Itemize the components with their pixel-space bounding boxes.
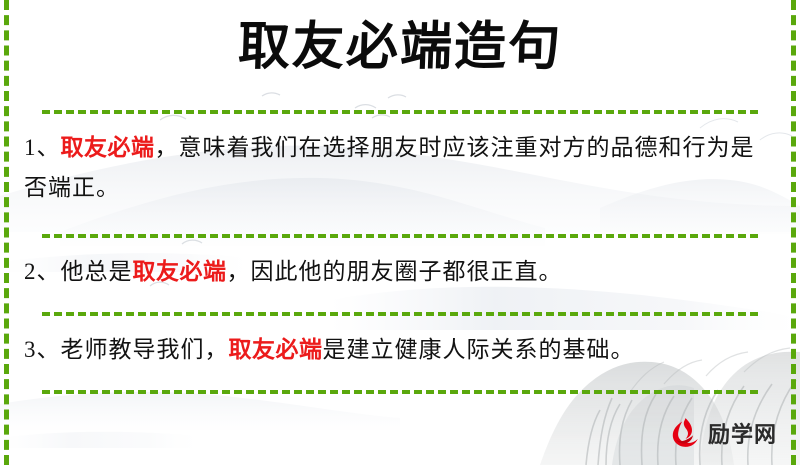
page-root: 取友必端造句 1、取友必端，意味着我们在选择朋友时应该注重对方的品德和行为是否端… bbox=[0, 0, 800, 465]
sentence-text-pre: 老师教导我们， bbox=[61, 337, 229, 362]
frame-border-right bbox=[791, 0, 796, 465]
sentence-keyword: 取友必端 bbox=[229, 337, 323, 362]
title-area: 取友必端造句 bbox=[0, 18, 800, 78]
sentence-item: 2、他总是取友必端，因此他的朋友圈子都很正直。 bbox=[24, 252, 776, 292]
sentence-index: 3、 bbox=[24, 337, 61, 362]
sentence-index: 2、 bbox=[24, 259, 61, 284]
sentence-text-pre: 他总是 bbox=[61, 259, 133, 284]
site-logo[interactable]: 励学网 bbox=[668, 416, 777, 450]
sentence-keyword: 取友必端 bbox=[61, 135, 155, 160]
sentence-text-post: 是建立健康人际关系的基础。 bbox=[323, 337, 635, 362]
separator-3 bbox=[42, 312, 758, 316]
sentence-keyword: 取友必端 bbox=[133, 259, 227, 284]
separator-1 bbox=[42, 110, 758, 114]
frame-border-left bbox=[4, 0, 9, 465]
sentence-item: 1、取友必端，意味着我们在选择朋友时应该注重对方的品德和行为是否端正。 bbox=[24, 128, 776, 208]
sentence-index: 1、 bbox=[24, 135, 61, 160]
page-title: 取友必端造句 bbox=[237, 18, 563, 78]
sentence-text-post: ，因此他的朋友圈子都很正直。 bbox=[227, 259, 563, 284]
logo-text: 励学网 bbox=[708, 417, 777, 449]
separator-4 bbox=[42, 390, 758, 394]
flame-swirl-icon bbox=[668, 416, 702, 450]
sentence-item: 3、老师教导我们，取友必端是建立健康人际关系的基础。 bbox=[24, 330, 776, 370]
separator-2 bbox=[42, 234, 758, 238]
